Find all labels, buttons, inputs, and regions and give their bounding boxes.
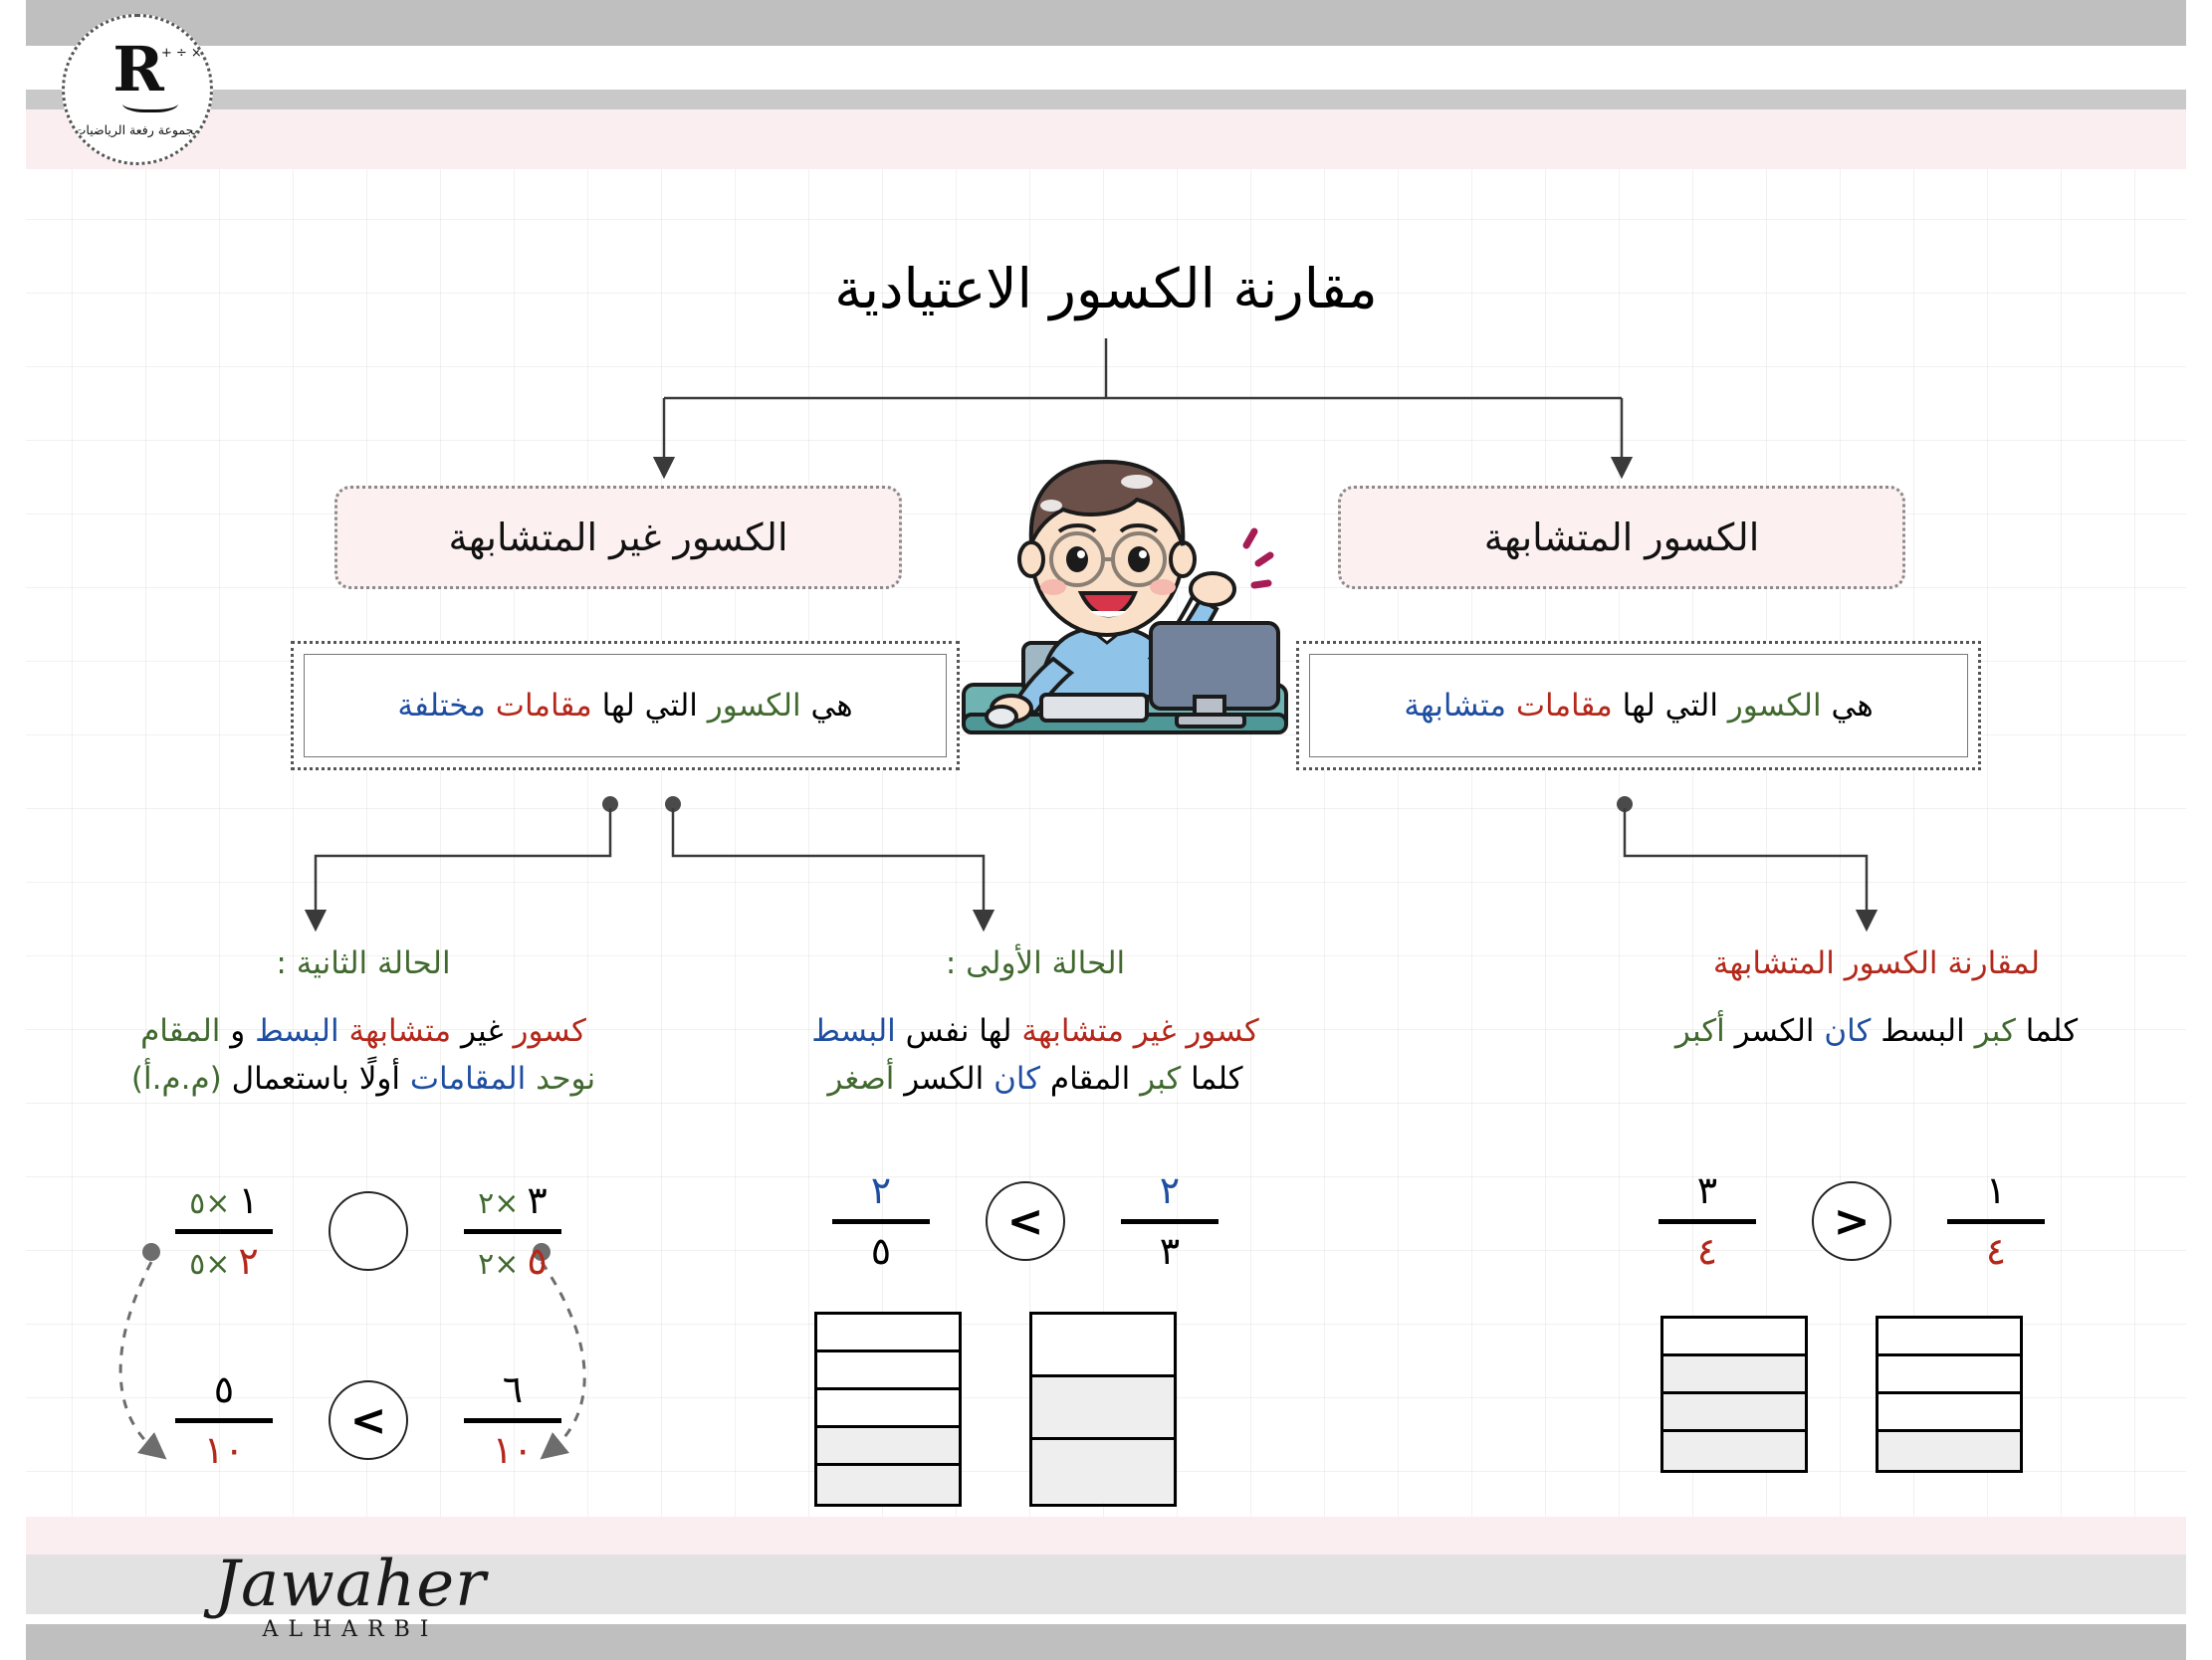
bar-cell (1879, 1394, 2020, 1432)
def-right-part4: مقامات (1516, 688, 1613, 724)
similar-compare-header: لمقارنة الكسور المتشابهة (1593, 945, 2160, 981)
def-left-part1: هي (810, 688, 852, 724)
case2-b: غير (461, 1013, 504, 1049)
def-left-part5: مختلفة (397, 688, 486, 724)
boy-at-computer-illustration (956, 448, 1294, 766)
bar-cell (1879, 1319, 2020, 1356)
fraction-six-tenths: ٦ ١٠ (464, 1368, 561, 1473)
comparison-operator: < (329, 1380, 408, 1460)
case1-r-e: الكسر (904, 1061, 984, 1097)
bar-cell (1663, 1356, 1805, 1394)
category-box-similar[interactable]: الكسور المتشابهة (1338, 486, 1905, 589)
case2-e: و (230, 1013, 245, 1049)
fraction-two-fifths: ٢ ٥ (832, 1169, 930, 1274)
def-right-part3: التي لها (1623, 688, 1718, 724)
def-right-part2: الكسور (1728, 688, 1822, 724)
bar-cell (1663, 1394, 1805, 1432)
numerator-multiplier: ٥× (189, 1188, 230, 1220)
branch-case-two: الحالة الثانية : كسور غير متشابهة البسط … (60, 945, 667, 1103)
case1-a: كسور غير متشابهة (1021, 1013, 1258, 1049)
branch-case-one: الحالة الأولى : كسور غير متشابهة لها نفس… (757, 945, 1314, 1103)
numerator: ٣ (527, 1181, 547, 1221)
bar-cell (817, 1315, 959, 1352)
logo-letter-mark: R + ÷ × (112, 42, 162, 98)
bar-model-three-quarters (1660, 1316, 1808, 1473)
top-pink-band (0, 109, 2212, 169)
fraction-conversion-step-one: ٥× ١ ٥× ٢ ٢× ٣ ٢× ٥ (129, 1179, 607, 1284)
case2-r-d: (م.م.أ) (131, 1061, 222, 1097)
left-margin (0, 0, 26, 1660)
numerator-with-multiplier: ٢× ٣ (474, 1179, 552, 1223)
rule-r-c: البسط (1880, 1013, 1965, 1049)
rule-r-f: أكبر (1675, 1013, 1725, 1049)
numerator: ٢ (1156, 1169, 1184, 1213)
denominator: ٥ (527, 1242, 547, 1282)
case2-r-b: المقامات (410, 1061, 526, 1097)
second-grey-band (0, 90, 2212, 109)
bar-model-one-quarter (1876, 1316, 2023, 1473)
bar-model-group-similar (1660, 1316, 2023, 1473)
author-signature: Jawaher ALHARBI (181, 1555, 520, 1642)
fraction-bar (175, 1418, 273, 1423)
brand-logo: R + ÷ × مجموعة رفعة الرياضيات (62, 14, 213, 165)
def-left-part2: الكسور (708, 688, 801, 724)
bar-cell (817, 1390, 959, 1428)
category-label-similar: الكسور المتشابهة (1484, 516, 1760, 559)
case1-c: البسط (811, 1013, 896, 1049)
fraction-bar (832, 1219, 930, 1224)
bar-cell (817, 1466, 959, 1504)
bar-cell (1032, 1315, 1174, 1377)
def-right-part1: هي (1831, 688, 1873, 724)
comparison-operator: < (986, 1181, 1065, 1261)
case1-r-d: كان (994, 1061, 1040, 1097)
bar-model-group-case-one (814, 1312, 1177, 1507)
def-right-part5: متشابهة (1404, 688, 1506, 724)
case1-r-f: أصغر (827, 1061, 894, 1097)
case2-f: المقام (140, 1013, 220, 1049)
numerator: ٥ (210, 1368, 238, 1412)
fraction-bar (464, 1229, 561, 1234)
rule-r-e: الكسر (1735, 1013, 1815, 1049)
category-label-dissimilar: الكسور غير المتشابهة (449, 516, 788, 559)
bar-cell (817, 1428, 959, 1466)
numerator: ١ (238, 1181, 258, 1221)
fraction-five-tenths: ٥ ١٠ (175, 1368, 273, 1473)
case-two-header: الحالة الثانية : (60, 945, 667, 981)
fraction-bar (464, 1418, 561, 1423)
bar-cell (1032, 1377, 1174, 1440)
case-one-line-1: كسور غير متشابهة لها نفس البسط (757, 1007, 1314, 1055)
case2-c: متشابهة (348, 1013, 451, 1049)
comparison-operator-empty[interactable] (329, 1191, 408, 1271)
def-left-part3: التي لها (602, 688, 698, 724)
case1-b: لها نفس (906, 1013, 1012, 1049)
bar-cell (1879, 1356, 2020, 1394)
fraction-three-quarters: ٣ ٤ (1659, 1169, 1756, 1274)
branch-similar-fractions: لمقارنة الكسور المتشابهة كلما كبر البسط … (1593, 945, 2160, 1055)
case-two-line-1: كسور غير متشابهة البسط و المقام (60, 1007, 667, 1055)
denominator: ٣ (1156, 1230, 1184, 1274)
top-grey-band (0, 0, 2212, 46)
case2-d: البسط (255, 1013, 339, 1049)
category-box-dissimilar[interactable]: الكسور غير المتشابهة (334, 486, 902, 589)
comparison-operator: > (1812, 1181, 1891, 1261)
case2-r-a: نوحد (536, 1061, 595, 1097)
bar-cell (1879, 1432, 2020, 1470)
signature-first-name: Jawaher (181, 1555, 520, 1615)
fraction-bar (175, 1229, 273, 1234)
definition-text-dissimilar: هي الكسور التي لها مقامات مختلفة (304, 654, 947, 757)
fraction-comparison-similar: ٣ ٤ > ١ ٤ (1633, 1169, 2071, 1274)
bar-model-two-thirds (1029, 1312, 1177, 1507)
fraction-one-half-scaled: ٥× ١ ٥× ٢ (175, 1179, 273, 1284)
logo-subtitle: مجموعة رفعة الرياضيات (75, 122, 201, 137)
denominator: ٤ (1982, 1230, 2010, 1274)
case-one-header: الحالة الأولى : (757, 945, 1314, 981)
case-one-line-2: كلما كبر المقام كان الكسر أصغر (757, 1055, 1314, 1103)
similar-compare-rule: كلما كبر البسط كان الكسر أكبر (1593, 1007, 2160, 1055)
rule-r-d: كان (1824, 1013, 1871, 1049)
case1-r-c: المقام (1050, 1061, 1130, 1097)
numerator-multiplier: ٢× (478, 1188, 519, 1220)
bar-cell (1663, 1432, 1805, 1470)
denominator: ١٠ (200, 1429, 249, 1473)
logo-math-symbols: + ÷ × (161, 48, 202, 60)
rule-r-b: كبر (1975, 1013, 2016, 1049)
fraction-comparison-case-one: ٢ ٥ < ٢ ٣ (806, 1169, 1244, 1274)
fraction-three-fifths-scaled: ٢× ٣ ٢× ٥ (464, 1179, 561, 1284)
page-title: مقارنة الكسور الاعتيادية (0, 257, 2212, 320)
right-margin (2186, 0, 2212, 1660)
case1-r-b: كبر (1140, 1061, 1181, 1097)
denominator-multiplier: ٢× (478, 1249, 519, 1281)
denominator-with-multiplier: ٢× ٥ (474, 1240, 552, 1284)
rule-r-a: كلما (2026, 1013, 2078, 1049)
case2-r-c: أولًا باستعمال (232, 1061, 400, 1097)
bar-cell (1032, 1440, 1174, 1503)
denominator-with-multiplier: ٥× ٢ (185, 1240, 263, 1284)
definition-box-dissimilar: هي الكسور التي لها مقامات مختلفة (291, 641, 960, 770)
denominator: ٤ (1693, 1230, 1721, 1274)
numerator: ٢ (867, 1169, 895, 1213)
case1-r-a: كلما (1191, 1061, 1242, 1097)
definition-box-similar: هي الكسور التي لها مقامات متشابهة (1296, 641, 1981, 770)
numerator-with-multiplier: ٥× ١ (185, 1179, 263, 1223)
bar-model-two-fifths (814, 1312, 962, 1507)
bar-cell (1663, 1319, 1805, 1356)
fraction-bar (1659, 1219, 1756, 1224)
definition-text-similar: هي الكسور التي لها مقامات متشابهة (1309, 654, 1968, 757)
fraction-conversion-step-two: ٥ ١٠ < ٦ ١٠ (129, 1368, 607, 1473)
denominator-multiplier: ٥× (189, 1249, 230, 1281)
fraction-bar (1947, 1219, 2045, 1224)
denominator: ٢ (238, 1242, 258, 1282)
case2-a: كسور (513, 1013, 585, 1049)
bar-cell (817, 1352, 959, 1390)
numerator: ٣ (1693, 1169, 1721, 1213)
top-white-band (0, 46, 2212, 90)
page-canvas: R + ÷ × مجموعة رفعة الرياضيات مقارنة الك… (0, 0, 2212, 1660)
fraction-one-quarter: ١ ٤ (1947, 1169, 2045, 1274)
numerator: ١ (1982, 1169, 2010, 1213)
denominator: ٥ (867, 1230, 895, 1274)
fraction-two-thirds: ٢ ٣ (1121, 1169, 1218, 1274)
case-two-line-2: نوحد المقامات أولًا باستعمال (م.م.أ) (60, 1055, 667, 1103)
open-book-icon (122, 91, 178, 112)
numerator: ٦ (499, 1368, 527, 1412)
fraction-bar (1121, 1219, 1218, 1224)
denominator: ١٠ (489, 1429, 538, 1473)
def-left-part4: مقامات (496, 688, 592, 724)
